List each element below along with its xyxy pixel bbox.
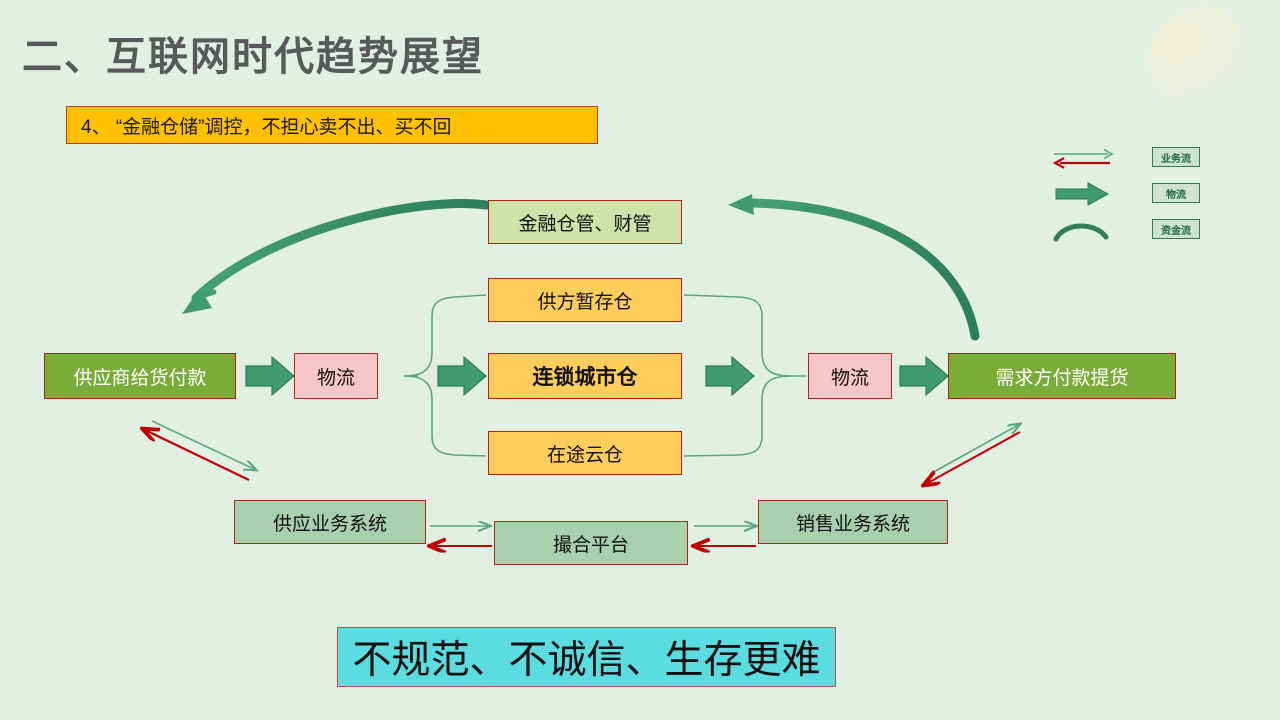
business-flow-left-diagonal <box>143 421 256 480</box>
node-supply-business-system[interactable]: 供应业务系统 <box>234 500 426 544</box>
capital-flow-arc-right <box>728 194 975 336</box>
legend-label-logistics: 物流 <box>1152 183 1200 203</box>
logistics-arrow-out-of-warehouses <box>706 357 754 395</box>
node-sales-business-system[interactable]: 销售业务系统 <box>758 500 948 544</box>
node-logistics-left[interactable]: 物流 <box>294 353 378 399</box>
node-supplier[interactable]: 供应商给货付款 <box>44 353 236 399</box>
logistics-arrow-right-logistics-to-demand <box>900 357 948 395</box>
logistics-arrow-supplier-to-left-logistics <box>246 357 294 395</box>
slogan-banner: 不规范、不诚信、生存更难 <box>337 627 836 687</box>
node-demand-side[interactable]: 需求方付款提货 <box>948 353 1176 399</box>
business-flow-right-diagonal <box>924 424 1020 485</box>
legend: 业务流 物流 资金流 <box>1050 145 1210 250</box>
node-finance-warehouse[interactable]: 金融仓管、财管 <box>488 200 682 244</box>
node-matching-platform[interactable]: 撮合平台 <box>494 521 688 565</box>
node-supplier-temp-warehouse[interactable]: 供方暂存仓 <box>488 278 682 322</box>
double-thin-arrow-icon <box>1050 145 1122 171</box>
capital-flow-arc-left <box>182 204 486 314</box>
business-flow-platform-to-sales <box>694 526 756 546</box>
legend-row-logistics: 物流 <box>1050 181 1210 207</box>
legend-row-business-flow: 业务流 <box>1050 145 1210 171</box>
slide-canvas: 二、互联网时代趋势展望 4、 “金融仓储”调控，不担心卖不出、买不回 <box>0 0 1280 720</box>
legend-label-business-flow: 业务流 <box>1152 147 1200 167</box>
node-in-transit-cloud-warehouse[interactable]: 在途云仓 <box>488 431 682 475</box>
legend-label-capital-flow: 资金流 <box>1152 219 1200 239</box>
curved-arc-icon <box>1050 217 1122 243</box>
logistics-arrow-into-warehouses <box>438 357 486 395</box>
business-flow-supply-to-platform <box>430 526 492 546</box>
node-chain-city-warehouse[interactable]: 连锁城市仓 <box>488 353 682 399</box>
legend-row-capital-flow: 资金流 <box>1050 217 1210 243</box>
thick-arrow-icon <box>1050 181 1122 207</box>
node-logistics-right[interactable]: 物流 <box>808 353 892 399</box>
